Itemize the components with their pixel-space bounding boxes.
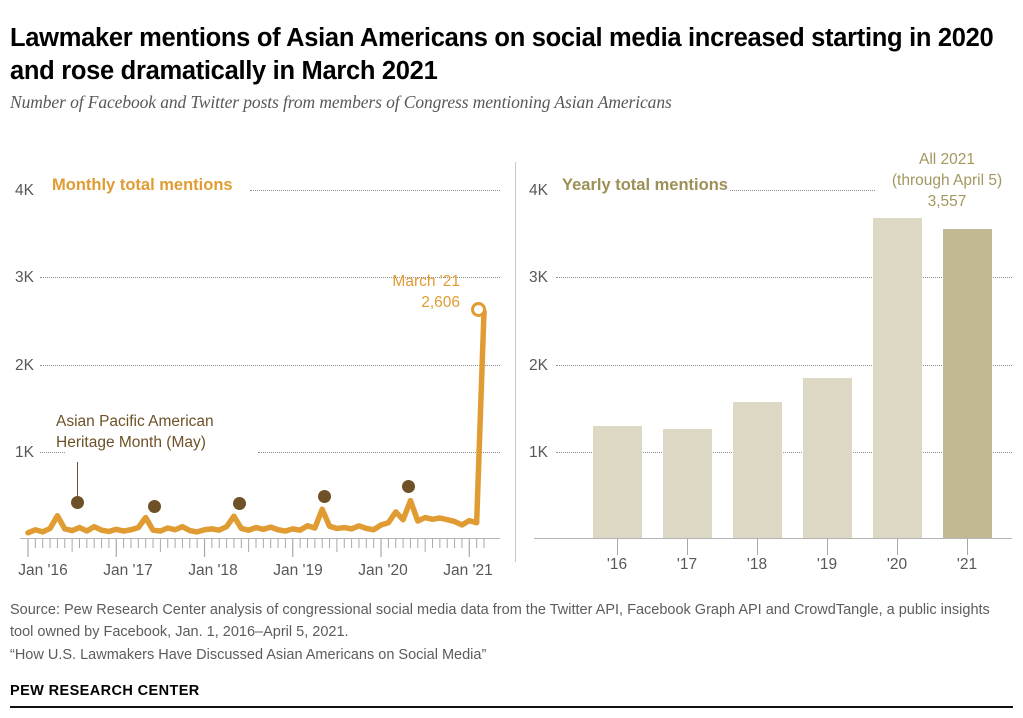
monthly-line-chart: Monthly total mentions 4K 3K 2K 1K Asian…: [0, 150, 512, 590]
report-title: “How U.S. Lawmakers Have Discussed Asian…: [10, 644, 1015, 667]
x-tick-label-jan21: Jan '21: [433, 562, 503, 580]
yearly-bar-chart: Yearly total mentions 4K 3K 2K 1K All 20…: [512, 150, 1023, 590]
bar-label-18: '18: [722, 556, 792, 574]
chart-page: Lawmaker mentions of Asian Americans on …: [0, 0, 1023, 718]
x-tick-label-jan20: Jan '20: [348, 562, 418, 580]
bar-tick-20: [897, 539, 898, 555]
brand-name: PEW RESEARCH CENTER: [10, 683, 1015, 699]
bar-tick-16: [617, 539, 618, 555]
monthly-line-path: [28, 311, 484, 533]
bar-tick-21: [967, 539, 968, 555]
may-peak-dot-2016: [71, 496, 84, 509]
x-tick-label-jan17: Jan '17: [93, 562, 163, 580]
may-peak-dot-2017: [148, 500, 161, 513]
bar-x-axis-labels: '16'17'18'19'20'21: [512, 556, 1023, 586]
bar-label-21: '21: [932, 556, 1002, 574]
bar-label-20: '20: [862, 556, 932, 574]
bar-17: [663, 429, 712, 538]
may-peak-dot-2018: [233, 497, 246, 510]
bar-tick-18: [757, 539, 758, 555]
x-tick-label-jan16: Jan '16: [8, 562, 78, 580]
may-peak-dot-2019: [318, 490, 331, 503]
bar-tick-17: [687, 539, 688, 555]
bottom-rule: [10, 706, 1013, 708]
bar-label-19: '19: [792, 556, 862, 574]
page-title: Lawmaker mentions of Asian Americans on …: [10, 22, 1010, 87]
bar-18: [733, 402, 782, 538]
monthly-series-line: [0, 150, 512, 590]
footer: Source: Pew Research Center analysis of …: [10, 600, 1015, 699]
x-tick-label-jan18: Jan '18: [178, 562, 248, 580]
x-tick-label-jan19: Jan '19: [263, 562, 333, 580]
may-peak-dot-2020: [402, 480, 415, 493]
source-note: Source: Pew Research Center analysis of …: [10, 600, 1015, 644]
bar-20: [873, 218, 922, 538]
bar-19: [803, 378, 852, 538]
bars-layer: [512, 150, 1023, 538]
bar-x-axis-ticks: [512, 538, 1023, 558]
page-subtitle: Number of Facebook and Twitter posts fro…: [10, 92, 1000, 113]
bar-label-16: '16: [582, 556, 652, 574]
bar-tick-19: [827, 539, 828, 555]
bar-label-17: '17: [652, 556, 722, 574]
charts-container: Monthly total mentions 4K 3K 2K 1K Asian…: [0, 150, 1023, 590]
bar-21: [943, 229, 992, 538]
bar-16: [593, 426, 642, 538]
march-21-peak-marker: [471, 302, 486, 317]
